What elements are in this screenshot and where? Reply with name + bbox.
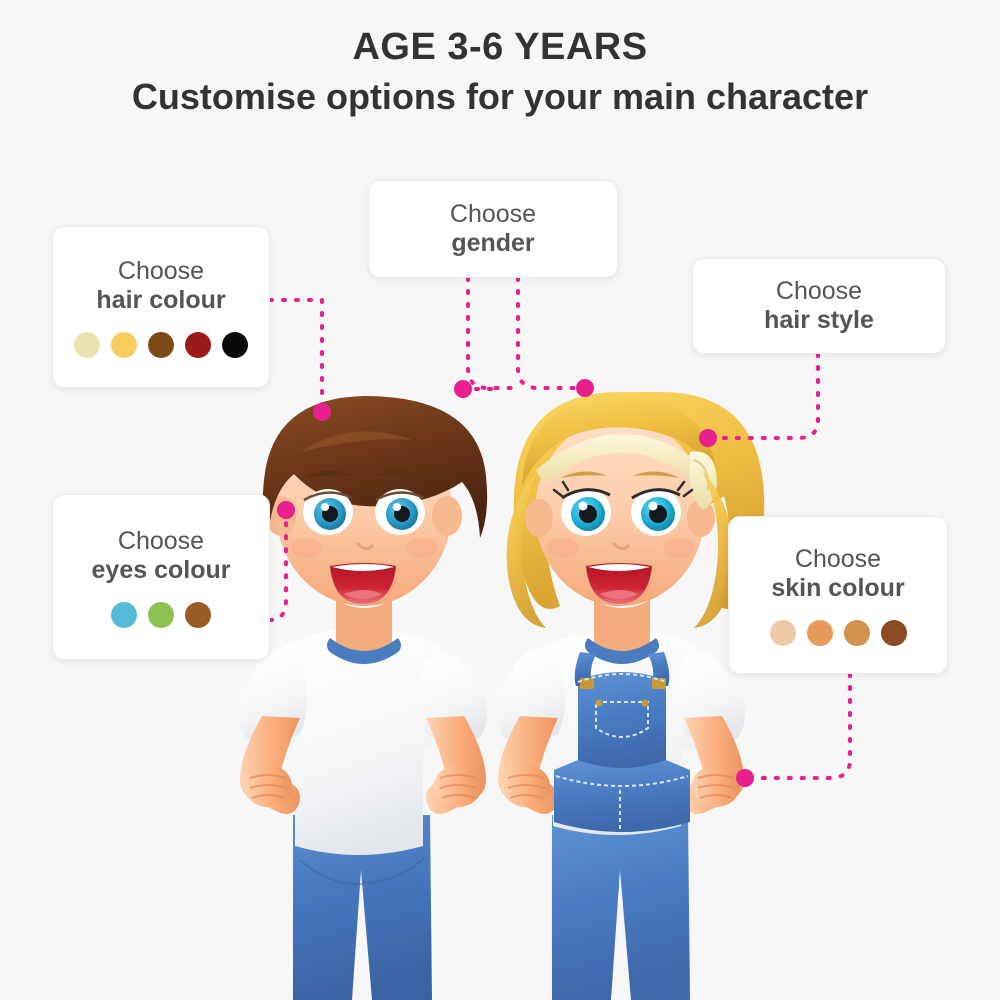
card-skin-colour-label: Choose skin colour	[771, 545, 904, 604]
customise-character-panel: AGE 3-6 YEARS Customise options for your…	[0, 0, 1000, 1000]
eyes-colour-swatch-3[interactable]	[185, 602, 211, 628]
card-hair-colour-line1: Choose	[96, 257, 225, 287]
card-eyes-colour[interactable]: Choose eyes colour	[52, 494, 270, 660]
hair-colour-swatch-list[interactable]	[74, 332, 248, 358]
page-title: AGE 3-6 YEARS Customise options for your…	[0, 28, 1000, 116]
card-gender-line1: Choose	[450, 200, 536, 230]
hair-colour-swatch-3[interactable]	[148, 332, 174, 358]
card-skin-colour-line1: Choose	[771, 545, 904, 575]
hair-colour-swatch-1[interactable]	[74, 332, 100, 358]
skin-colour-swatch-2[interactable]	[807, 620, 833, 646]
card-hair-colour[interactable]: Choose hair colour	[52, 226, 270, 388]
hair-colour-swatch-2[interactable]	[111, 332, 137, 358]
card-hair-style-label: Choose hair style	[764, 277, 874, 336]
title-age-line: AGE 3-6 YEARS	[0, 28, 1000, 66]
card-skin-colour[interactable]: Choose skin colour	[728, 516, 948, 674]
hair-colour-swatch-4[interactable]	[185, 332, 211, 358]
skin-colour-swatch-4[interactable]	[881, 620, 907, 646]
eyes-colour-swatch-list[interactable]	[111, 602, 211, 628]
card-eyes-colour-line1: Choose	[92, 527, 231, 557]
card-gender-line2: gender	[450, 229, 536, 259]
card-eyes-colour-label: Choose eyes colour	[92, 527, 231, 586]
eyes-colour-swatch-2[interactable]	[148, 602, 174, 628]
card-gender[interactable]: Choose gender	[368, 180, 618, 278]
girl-character	[497, 392, 764, 1000]
card-hair-colour-line2: hair colour	[96, 286, 225, 316]
card-hair-style-line1: Choose	[764, 277, 874, 307]
title-subtitle-line: Customise options for your main characte…	[0, 78, 1000, 116]
card-eyes-colour-line2: eyes colour	[92, 556, 231, 586]
skin-colour-swatch-3[interactable]	[844, 620, 870, 646]
card-gender-label: Choose gender	[450, 200, 536, 259]
card-skin-colour-line2: skin colour	[771, 574, 904, 604]
boy-character	[239, 396, 487, 1000]
skin-colour-swatch-list[interactable]	[770, 620, 907, 646]
hair-colour-swatch-5[interactable]	[222, 332, 248, 358]
card-hair-style[interactable]: Choose hair style	[692, 258, 946, 354]
skin-colour-swatch-1[interactable]	[770, 620, 796, 646]
eyes-colour-swatch-1[interactable]	[111, 602, 137, 628]
card-hair-style-line2: hair style	[764, 306, 874, 336]
card-hair-colour-label: Choose hair colour	[96, 257, 225, 316]
